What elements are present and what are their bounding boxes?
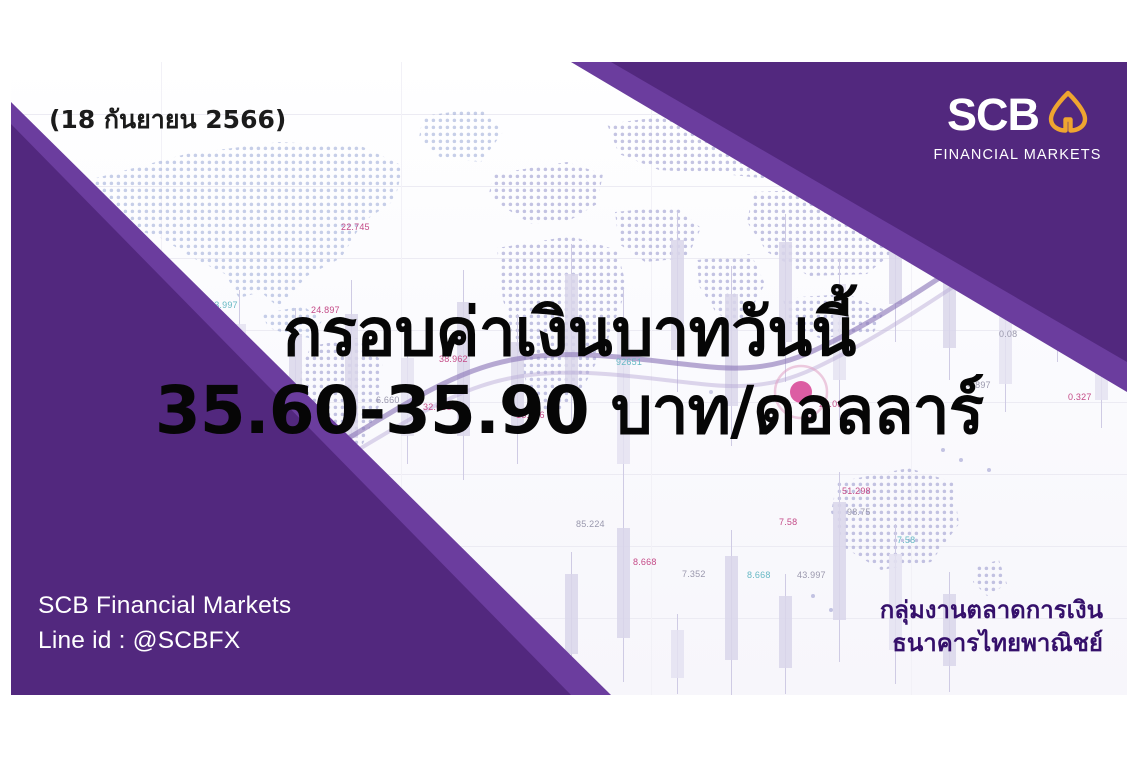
background-number: 25.886 [294,469,323,479]
footer-department-name: กลุ่มงานตลาดการเงิน [880,594,1103,628]
background-number: 18.756 [516,410,545,420]
background-number: 7.352 [682,569,706,579]
footer-bank-name: ธนาคารไทยพาณิชย์ [880,627,1103,661]
background-number: 38.962 [439,354,468,364]
background-number: 7.352 [246,492,270,502]
background-number: 8.668 [633,557,657,567]
background-number: 22.745 [341,222,370,232]
footer-brand-name: SCB Financial Markets [38,589,291,624]
background-number: 85.886 [41,424,70,434]
background-number: 0.327 [1068,392,1092,402]
background-number: 10.552 [197,480,226,490]
background-number: 24.897 [962,380,991,390]
background-number: 32.658 [423,402,452,412]
background-number: 85.224 [576,519,605,529]
scb-logo: SCB FINANCIAL MARKETS [930,90,1105,163]
background-number: 98.75 [847,507,871,517]
scb-wordmark: SCB [947,92,1039,137]
background-number: 7.58 [897,535,915,545]
footer-right-block: กลุ่มงานตลาดการเงิน ธนาคารไทยพาณิชย์ [880,594,1103,661]
highlight-marker [790,381,812,403]
poster-canvas: 22.74543.99724.89738.9629265185.2246.660… [0,0,1140,760]
background-number: 51.298 [842,486,871,496]
publication-date: (18 กันยายน 2566) [49,100,286,140]
background-number: 24.897 [311,305,340,315]
footer-left-block: SCB Financial Markets Line id : @SCBFX [38,589,291,659]
background-number: 43.997 [797,570,826,580]
scb-bodhi-leaf-icon [1048,90,1088,138]
background-number: 7.58 [779,517,797,527]
background-number: 6.660 [376,395,400,405]
background-number: 8.668 [747,570,771,580]
background-number: 99.537 [135,442,164,452]
background-number: 43.997 [243,440,272,450]
scb-logo-tagline: FINANCIAL MARKETS [930,147,1105,163]
footer-line-id: Line id : @SCBFX [38,624,291,659]
banner-card: 22.74543.99724.89738.9629265185.2246.660… [11,62,1127,695]
background-number: 43.997 [209,300,238,310]
background-number: 85.224 [171,377,200,387]
background-number: 92651 [616,357,642,367]
background-number: 0.08 [999,329,1017,339]
background-number: 22.08 [819,399,843,409]
